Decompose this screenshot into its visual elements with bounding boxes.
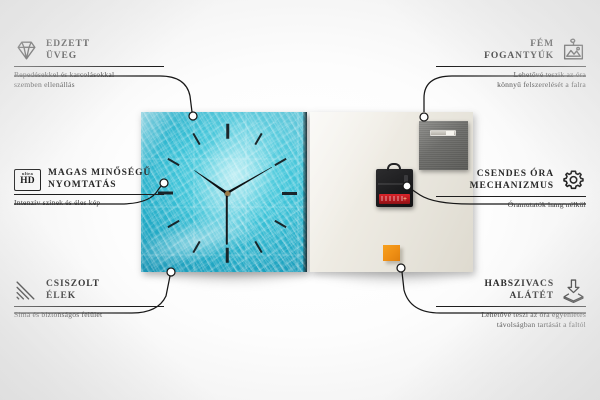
callout-subtitle: Sima és biztonságos felület (14, 310, 174, 320)
callout-title: CSENDES ÓRA MECHANIZMUS (470, 169, 554, 192)
clock-tick (275, 220, 287, 228)
clock-tick (167, 220, 179, 228)
hd-label: HD (20, 177, 35, 187)
glass-panel-edge (303, 112, 307, 272)
callout-subtitle: Lehetővé teszik az óra könnyű felszerelé… (426, 70, 586, 89)
callout-header: CSISZOLT ÉLEK (14, 278, 174, 303)
infographic-canvas: + (0, 0, 600, 400)
clock-tick (254, 241, 262, 253)
callout-header: FÉM FOGANTYÚK (426, 38, 586, 63)
picture-hanger-icon (561, 38, 586, 63)
mechanism-seam (378, 183, 404, 185)
callout-header: HABSZIVACS ALÁTÉT (426, 278, 586, 303)
quartz-clock-mechanism: + (376, 169, 413, 207)
callout-high-quality-print[interactable]: ultra HD MAGAS MINŐSÉGŰ NYOMTATÁS Intenz… (14, 168, 174, 208)
battery-plus-terminal: + (402, 196, 408, 202)
diamond-icon (14, 38, 39, 63)
callout-polished-edges[interactable]: CSISZOLT ÉLEK Sima és biztonságos felüle… (14, 278, 174, 320)
clock-minute-hand (226, 165, 273, 195)
clock-hour-hand (193, 168, 228, 195)
callout-silent-mechanism[interactable]: CSENDES ÓRA MECHANIZMUS Óramutatók hang … (426, 168, 586, 210)
callout-header: EDZETT ÜVEG (14, 38, 174, 63)
gear-icon (561, 168, 586, 193)
aa-battery: + (379, 194, 410, 204)
callout-subtitle: Óramutatók hang nélkül (426, 200, 586, 210)
mechanism-hanging-loop (387, 163, 401, 171)
callout-divider (14, 306, 164, 307)
callout-title: MAGAS MINŐSÉGŰ NYOMTATÁS (48, 168, 151, 191)
polished-edge-icon (14, 278, 39, 303)
callout-divider (14, 66, 164, 67)
clock-center-cap (225, 191, 230, 196)
callout-header: ultra HD MAGAS MINŐSÉGŰ NYOMTATÁS (14, 168, 174, 191)
hanger-keyhole-slot (430, 130, 456, 136)
metal-hanger-plate (419, 121, 468, 170)
feather-streaks-c (231, 202, 307, 272)
clock-tick (275, 158, 287, 166)
callout-divider (436, 196, 586, 197)
callout-title: HABSZIVACS ALÁTÉT (484, 279, 554, 302)
battery-label (381, 196, 403, 201)
mechanism-shaft (404, 175, 408, 187)
callout-divider (436, 66, 586, 67)
callout-subtitle: Intenzív színek és éles kép (14, 198, 174, 208)
callout-subtitle: Lehetővé teszi az óra egyenletes távolsá… (426, 310, 586, 329)
clock-tick (226, 248, 229, 263)
callout-title: FÉM FOGANTYÚK (484, 39, 554, 62)
callout-subtitle: Repedésekkel és karcolásokkal szemben el… (14, 70, 174, 89)
callout-title: CSISZOLT ÉLEK (46, 279, 100, 302)
ultra-hd-icon: ultra HD (14, 169, 41, 191)
callout-title: EDZETT ÜVEG (46, 39, 90, 62)
callout-header: CSENDES ÓRA MECHANIZMUS (426, 168, 586, 193)
clock-tick (282, 192, 297, 195)
clock-tick (226, 124, 229, 139)
callout-tempered-glass[interactable]: EDZETT ÜVEG Repedésekkel és karcolásokka… (14, 38, 174, 90)
callout-metal-handles[interactable]: FÉM FOGANTYÚK Lehetővé teszik az óra kö (426, 38, 586, 90)
foam-spacer-pad (383, 245, 400, 261)
clock-second-hand (226, 193, 228, 245)
callout-divider (14, 194, 164, 195)
callout-foam-pad[interactable]: HABSZIVACS ALÁTÉT Lehetővé teszi az óra … (426, 278, 586, 330)
callout-divider (436, 306, 586, 307)
clock-tick (192, 241, 200, 253)
feather-streaks-b (151, 122, 307, 272)
clock-tick (192, 133, 200, 145)
clock-tick (254, 133, 262, 145)
clock-tick (167, 158, 179, 166)
foam-pad-icon (561, 278, 586, 303)
